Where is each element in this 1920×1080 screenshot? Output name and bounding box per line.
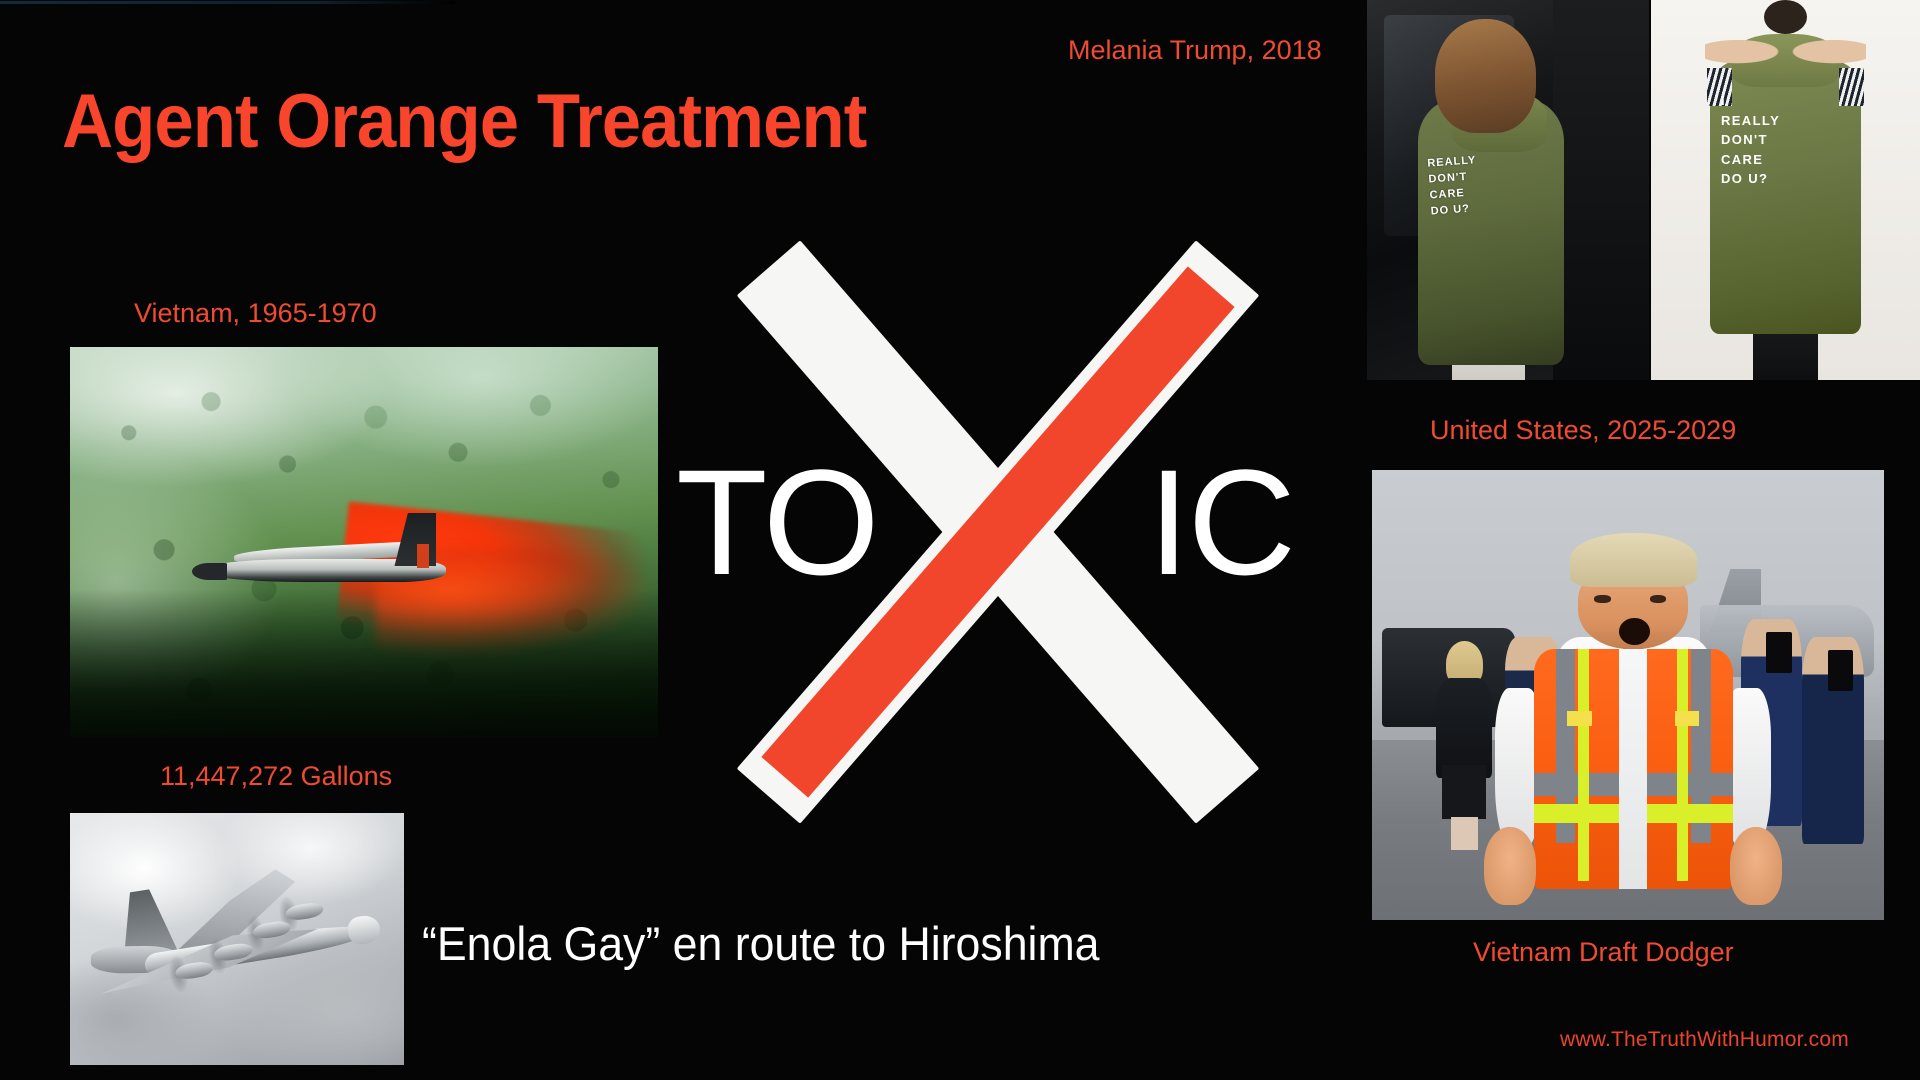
vest-pocket-left [1567, 711, 1592, 726]
caption-united-states: United States, 2025-2029 [1430, 415, 1736, 446]
model-hair-bun [1764, 0, 1807, 34]
open-mouth [1619, 618, 1649, 645]
eye-right [1650, 595, 1667, 604]
jacket-line-3: CARE [1721, 150, 1856, 170]
foreground-figure [1495, 533, 1771, 920]
jacket-line-4: DO U? [1721, 169, 1856, 189]
jacket-line-2: DON'T [1721, 130, 1856, 150]
photo-b29-bomber [70, 813, 404, 1065]
smartphone-icon [1828, 650, 1854, 691]
vest-lime-stripe-right [1677, 649, 1688, 881]
woman-skirt [1442, 765, 1486, 819]
jacket-line-1: REALLY [1721, 111, 1856, 131]
vest-zipper-gap [1619, 649, 1647, 889]
background-woman [1433, 641, 1494, 848]
photo-melania-jacket-rear: I REALLY DON'T CARE DO U? [1651, 0, 1920, 380]
caption-draft-dodger: Vietnam Draft Dodger [1473, 937, 1734, 968]
hand-left [1484, 827, 1537, 904]
photo-melania-jacket-car: REALLY DON'T CARE DO U? [1367, 0, 1649, 380]
page-title: Agent Orange Treatment [62, 78, 866, 165]
jacket-slogan-text: REALLY DON'T CARE DO U? [1427, 148, 1561, 221]
c130-nose [192, 563, 227, 580]
caption-gallons: 11,447,272 Gallons [160, 761, 392, 792]
photo-trump-safety-vest [1372, 470, 1884, 920]
hand-right [1730, 827, 1783, 904]
b29-nose [346, 914, 382, 947]
footer-url: www.TheTruthWithHumor.com [1560, 1028, 1849, 1052]
vehicle-door [1553, 0, 1649, 380]
caption-melania: Melania Trump, 2018 [1068, 35, 1322, 66]
top-accent-rule [0, 1, 455, 4]
vest-pocket-right [1675, 711, 1700, 726]
slide-canvas: Agent Orange Treatment Melania Trump, 20… [0, 0, 1920, 1080]
caption-enola-gay: “Enola Gay” en route to Hiroshima [422, 916, 1099, 971]
hair [1570, 533, 1697, 587]
vest-lime-stripe-left [1578, 649, 1589, 881]
c130-tail-stripe [417, 544, 429, 568]
x-mark-icon [712, 252, 1284, 812]
woman-jacket [1436, 678, 1493, 777]
jacket-slogan-text: I REALLY DON'T CARE DO U? [1721, 91, 1856, 189]
jacket-line-0: I [1721, 91, 1856, 111]
melania-hair [1435, 19, 1537, 133]
c130-tail [394, 513, 436, 566]
caption-vietnam: Vietnam, 1965-1970 [134, 298, 377, 329]
model-legs [1753, 334, 1818, 380]
photo-jungle-spray [70, 347, 658, 737]
c130-aircraft-icon [199, 515, 446, 601]
woman-legs [1451, 817, 1478, 850]
eye-left [1594, 595, 1611, 604]
